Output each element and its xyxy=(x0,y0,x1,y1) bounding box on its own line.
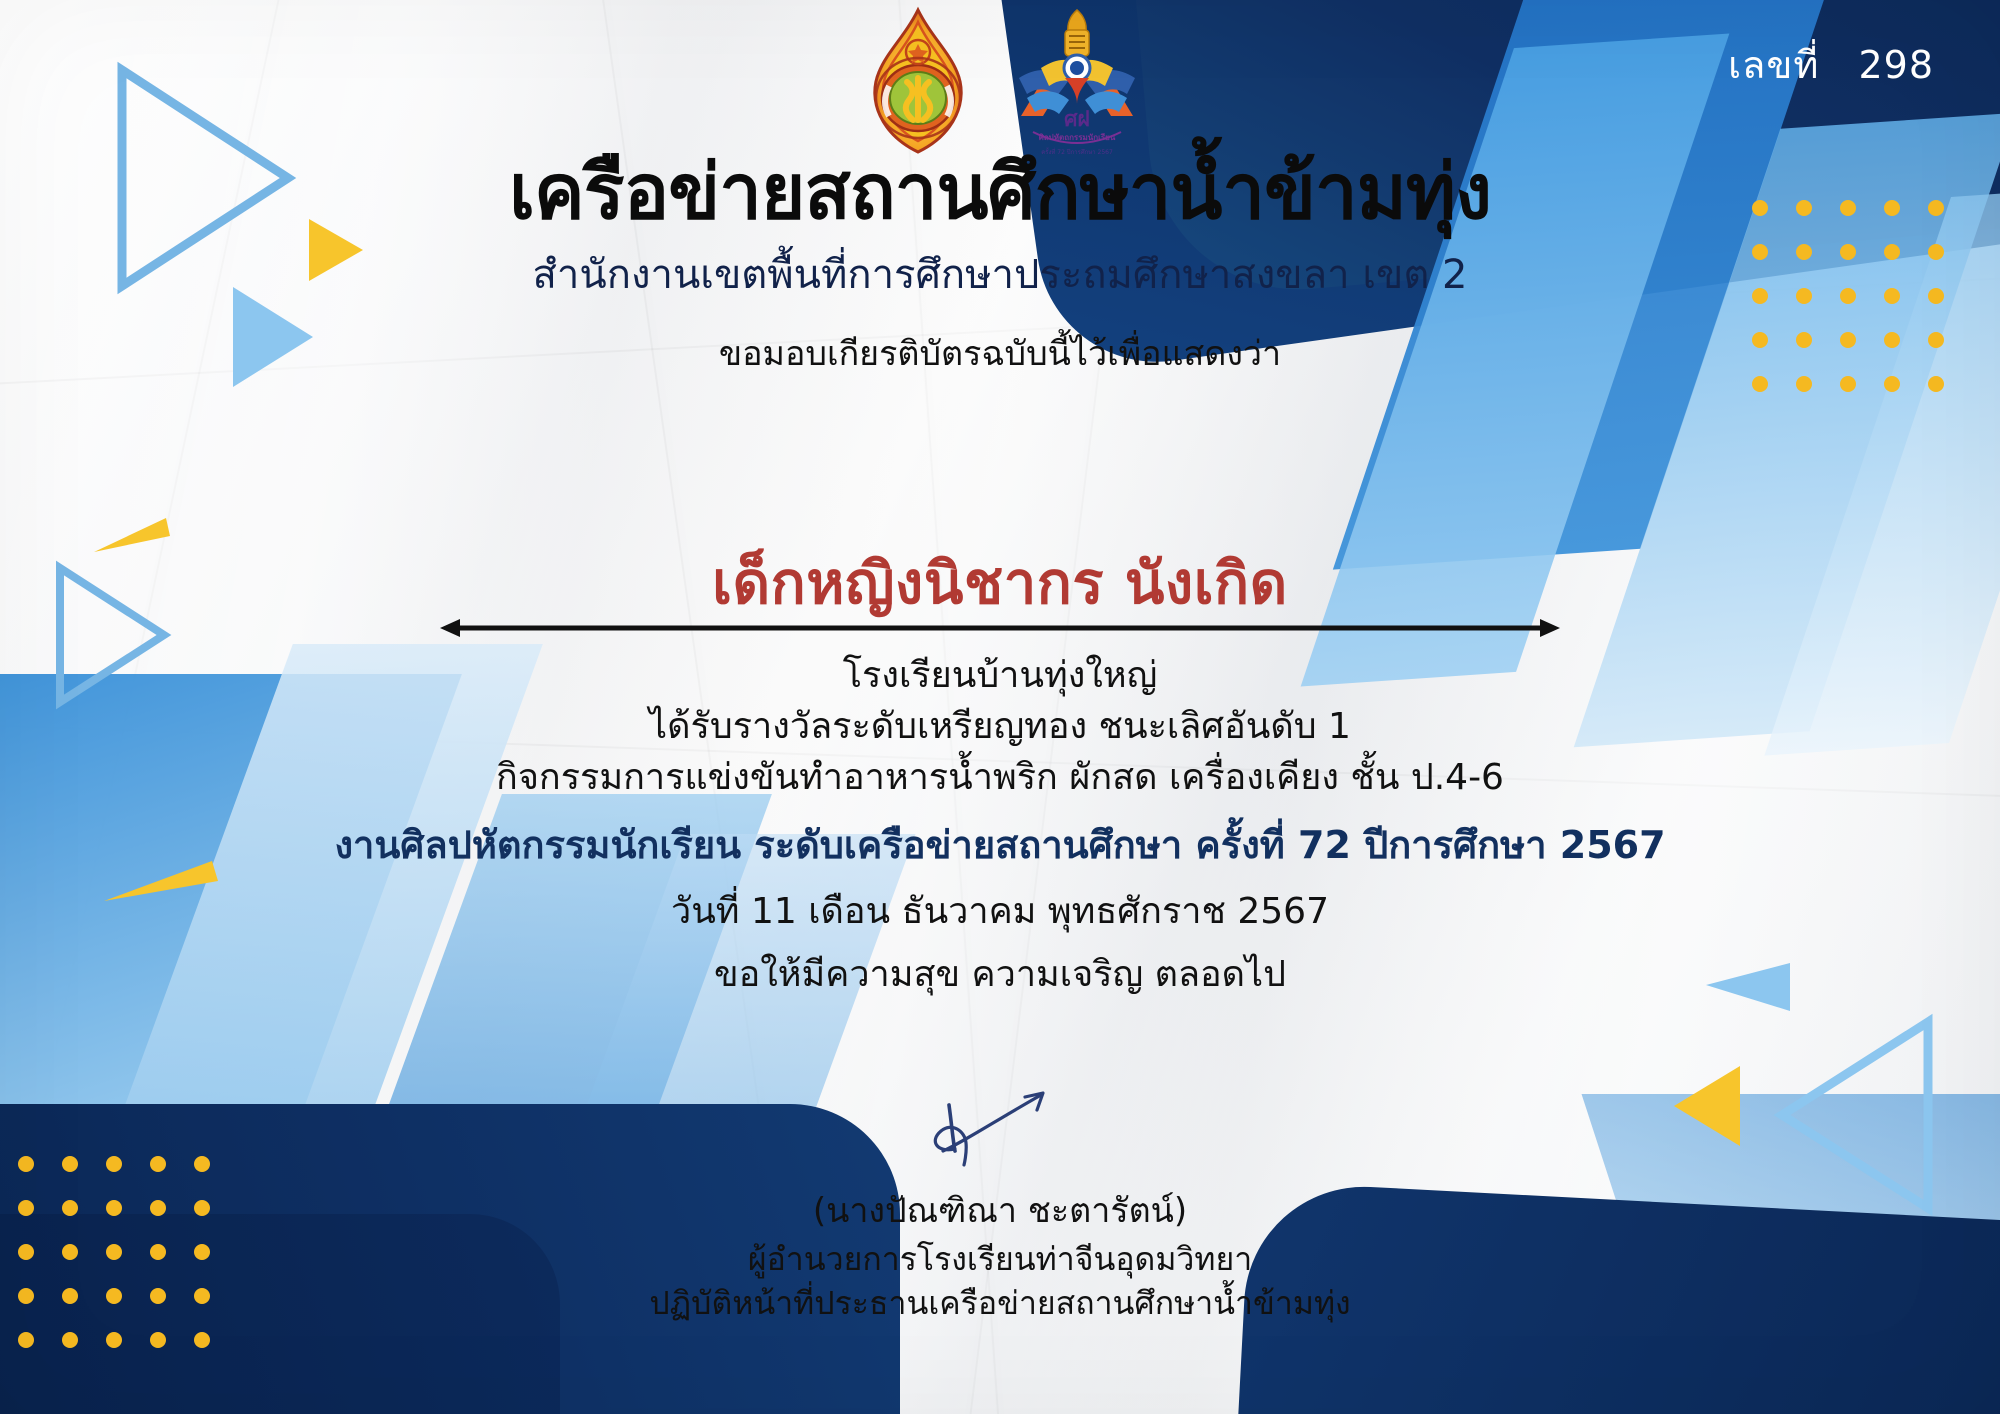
date-line: วันที่ 11 เดือน ธันวาคม พุทธศักราช 2567 xyxy=(0,886,2000,937)
signature-block: (นางปัณฑิณา ชะตารัตน์) ผู้อำนวยการโรงเรี… xyxy=(0,1085,2000,1325)
school-name: โรงเรียนบ้านทุ่งใหญ่ xyxy=(0,650,2000,701)
svg-text:ศิลปหัตถกรรมนักเรียน: ศิลปหัตถกรรมนักเรียน xyxy=(1039,132,1116,142)
organization-title: เครือข่ายสถานศึกษาน้ำข้ามทุ่ง xyxy=(0,152,2000,232)
event-line: งานศิลปหัตกรรมนักเรียน ระดับเครือข่ายสถา… xyxy=(0,817,2000,874)
intro-line: ขอมอบเกียรติบัตรฉบับนี้ไว้เพื่อแสดงว่า xyxy=(0,326,2000,380)
body-block: โรงเรียนบ้านทุ่งใหญ่ ได้รับรางวัลระดับเห… xyxy=(0,650,2000,1001)
ministry-of-education-emblem-icon xyxy=(853,6,983,158)
handwritten-signature-icon xyxy=(885,1085,1115,1181)
svg-text:ศฝ: ศฝ xyxy=(1064,107,1090,131)
signer-name: (นางปัณฑิณา ชะตารัตน์) xyxy=(0,1183,2000,1237)
award-line: ได้รับรางวัลระดับเหรียญทอง ชนะเลิศอันดับ… xyxy=(0,701,2000,752)
organization-subtitle: สำนักงานเขตพื้นที่การศึกษาประถมศึกษาสงขล… xyxy=(0,242,2000,306)
divider-rule xyxy=(440,615,1560,641)
signer-role-line-2: ปฏิบัติหน้าที่ประธานเครือข่ายสถานศึกษาน้… xyxy=(0,1281,2000,1325)
certificate-page: เลขที่ 298 xyxy=(0,0,2000,1414)
art-and-craft-festival-logo-icon: ศฝ ศิลปหัตถกรรมนักเรียน ครั้งที่ 72 ปีกา… xyxy=(1007,6,1147,158)
signature-mark xyxy=(0,1085,2000,1181)
signer-role-line-1: ผู้อำนวยการโรงเรียนท่าจีนอุดมวิทยา xyxy=(0,1237,2000,1281)
activity-line: กิจกรรมการแข่งขันทำอาหารน้ำพริก ผักสด เค… xyxy=(0,752,2000,803)
heading-block: เครือข่ายสถานศึกษาน้ำข้ามทุ่ง สำนักงานเข… xyxy=(0,152,2000,380)
logo-row: ศฝ ศิลปหัตถกรรมนักเรียน ครั้งที่ 72 ปีกา… xyxy=(0,6,2000,158)
blessing-line: ขอให้มีความสุข ความเจริญ ตลอดไป xyxy=(0,949,2000,1000)
